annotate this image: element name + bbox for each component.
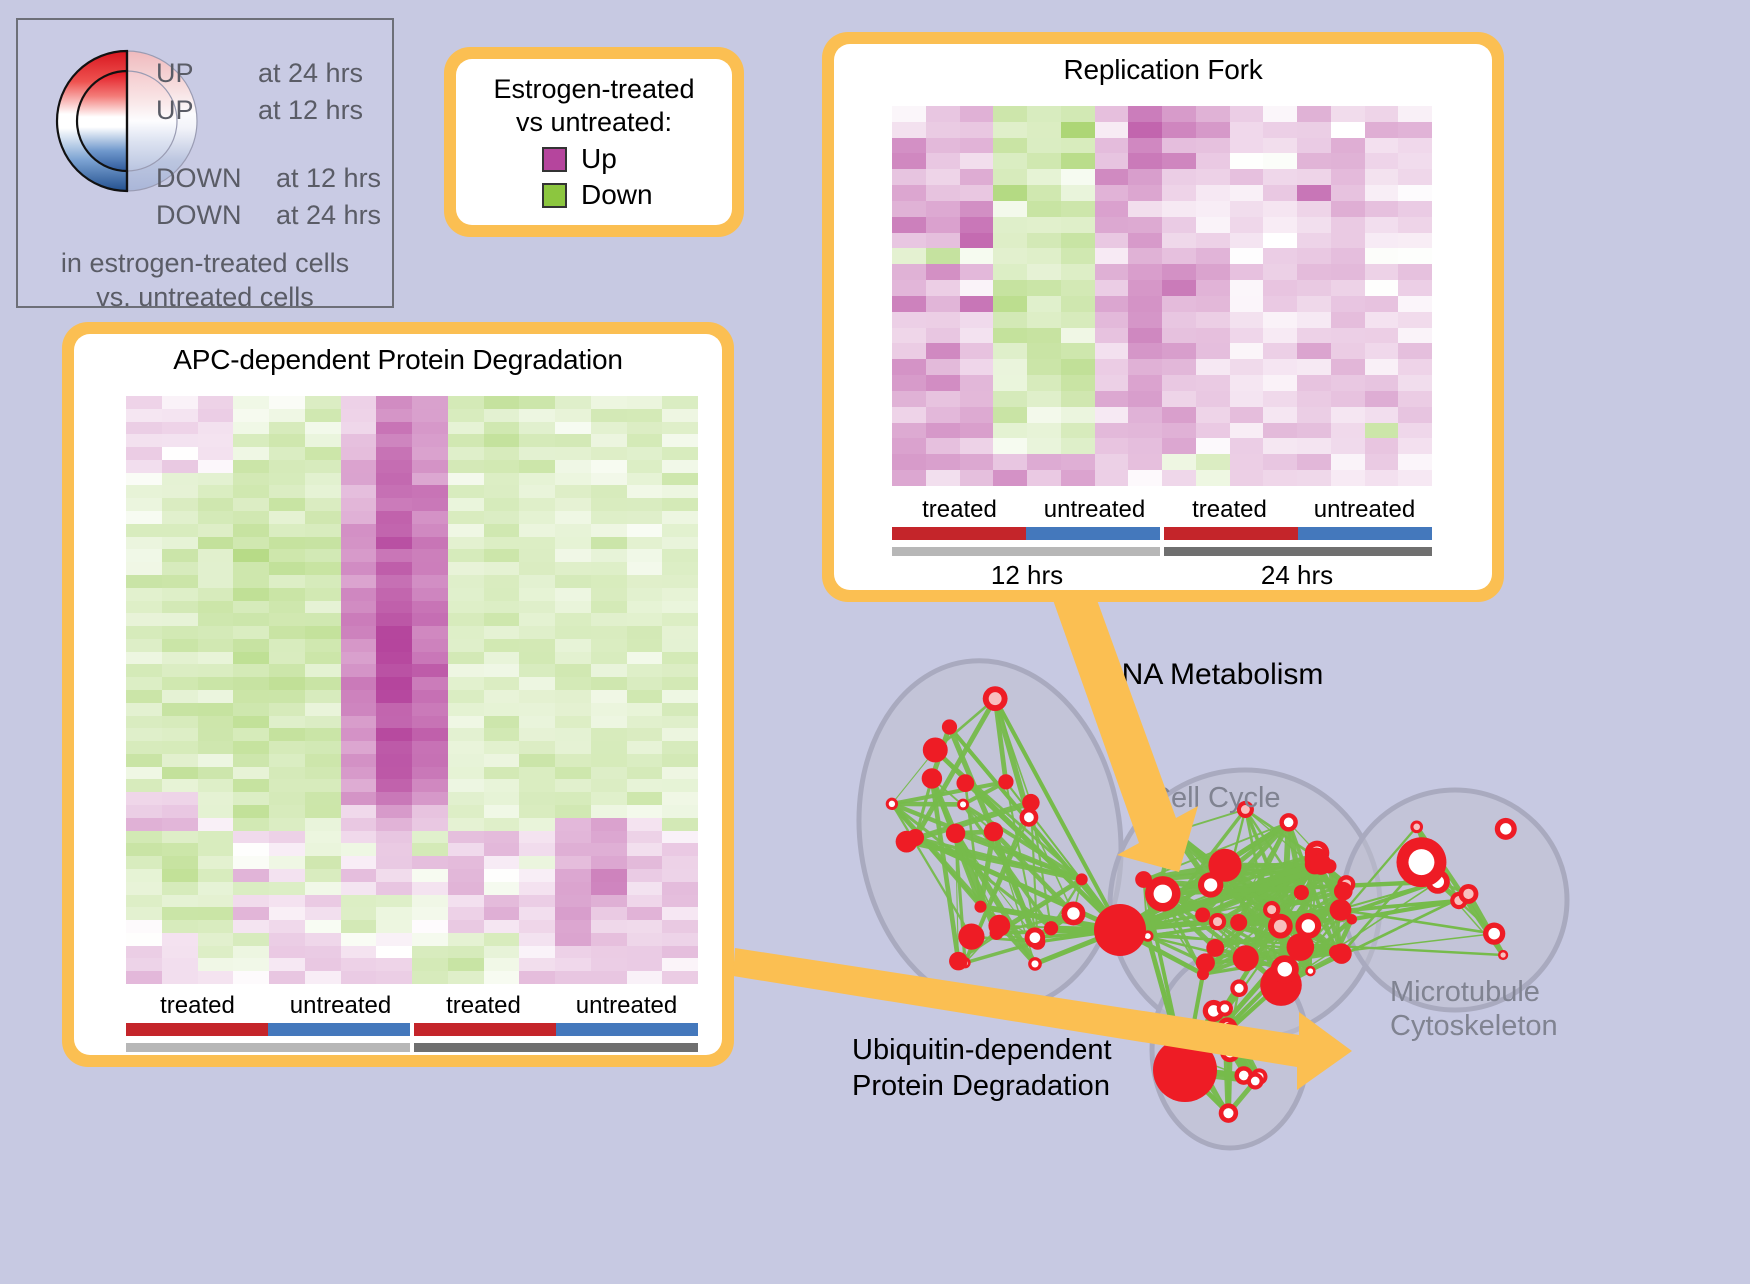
heatmap-cell [412, 728, 448, 741]
heatmap-cell [1263, 359, 1297, 375]
heatmap-cell [376, 754, 412, 767]
heatmap-cell [376, 856, 412, 869]
legend-up-12-label: UP [156, 95, 194, 126]
heatmap-cell [662, 562, 698, 575]
heatmap-cell [305, 473, 341, 486]
legend-down-at-24: at 24 hrs [276, 200, 381, 231]
heatmap-cell [627, 716, 663, 729]
heatmap-cell [162, 831, 198, 844]
heatmap-cell [341, 741, 377, 754]
heatmap-cell [591, 652, 627, 665]
heatmap-cell [1095, 185, 1129, 201]
heatmap-cell [926, 153, 960, 169]
heatmap-cell [1095, 470, 1129, 486]
heatmap-cell [1365, 423, 1399, 439]
heatmap-cell [1061, 359, 1095, 375]
heatmap-cell [926, 280, 960, 296]
heatmap-cell [960, 185, 994, 201]
heatmap-cell [269, 639, 305, 652]
heatmap-cell [233, 779, 269, 792]
heatmap-cell [519, 958, 555, 971]
heatmap-cell [162, 728, 198, 741]
heatmap-cell [1196, 185, 1230, 201]
heatmap-cell [591, 792, 627, 805]
heatmap-cell [412, 792, 448, 805]
heatmap-cell [269, 920, 305, 933]
heatmap-cell [1263, 438, 1297, 454]
heatmap-cell [1331, 423, 1365, 439]
treatment-label: untreated [555, 992, 698, 1020]
heatmap-cell [591, 575, 627, 588]
heatmap-cell [233, 933, 269, 946]
timepoint-label: 12 hrs [892, 560, 1162, 590]
heatmap-cell [1331, 296, 1365, 312]
heatmap-cell [926, 122, 960, 138]
heatmap-cell [1027, 407, 1061, 423]
heatmap-cell [627, 434, 663, 447]
heatmap-cell [1365, 185, 1399, 201]
heatmap-cell [126, 613, 162, 626]
heatmap-cell [412, 626, 448, 639]
heatmap-cell [519, 677, 555, 690]
heatmap-cell [198, 920, 234, 933]
heatmap-cell [1263, 185, 1297, 201]
network-node [1044, 921, 1058, 935]
heatmap-cell [376, 843, 412, 856]
heatmap-cell [627, 460, 663, 473]
heatmap-cell [591, 473, 627, 486]
heatmap-cell [198, 473, 234, 486]
heatmap-cell [341, 498, 377, 511]
heatmap-cell [1297, 169, 1331, 185]
heatmap-cell [341, 652, 377, 665]
heatmap-cell [1095, 296, 1129, 312]
heatmap-cell [376, 409, 412, 422]
heatmap-cell [126, 549, 162, 562]
heatmap-cell [591, 779, 627, 792]
heatmap-cell [627, 422, 663, 435]
heatmap-cell [627, 767, 663, 780]
heatmap-cell [233, 422, 269, 435]
heatmap-cell [1230, 454, 1264, 470]
heatmap-cell [305, 626, 341, 639]
heatmap-cell [1027, 264, 1061, 280]
heatmap-cell [1196, 375, 1230, 391]
heatmap-cell [341, 792, 377, 805]
heatmap-cell [993, 391, 1027, 407]
heatmap-cell [519, 652, 555, 665]
heatmap-cell [555, 741, 591, 754]
heatmap-cell [993, 343, 1027, 359]
heatmap-cell [376, 805, 412, 818]
heatmap-cell [1128, 359, 1162, 375]
heatmap-cell [662, 792, 698, 805]
heatmap-cell [1162, 217, 1196, 233]
heatmap-cell [555, 805, 591, 818]
network-node [1310, 854, 1331, 875]
heatmap-cell [376, 728, 412, 741]
heatmap-cell [591, 856, 627, 869]
heatmap-cell [1331, 185, 1365, 201]
heatmap-cell [519, 562, 555, 575]
key-title-line-1: Estrogen-treated [456, 73, 732, 106]
heatmap-cell [555, 779, 591, 792]
heatmap-cell [484, 524, 520, 537]
heatmap-cell [591, 498, 627, 511]
heatmap-cell [305, 460, 341, 473]
heatmap-cell [412, 601, 448, 614]
heatmap-cell [412, 882, 448, 895]
network-node-core [1031, 960, 1038, 967]
heatmap-cell [484, 716, 520, 729]
heatmap-cell [162, 792, 198, 805]
heatmap-cell [198, 588, 234, 601]
heatmap-cell [591, 460, 627, 473]
heatmap-cell [341, 754, 377, 767]
heatmap-cell [376, 434, 412, 447]
network-node [988, 915, 1010, 937]
heatmap-cell [555, 664, 591, 677]
heatmap-cell [1331, 280, 1365, 296]
heatmap-cell [162, 639, 198, 652]
heatmap-cell [341, 511, 377, 524]
heatmap-cell [591, 447, 627, 460]
heatmap-cell [960, 169, 994, 185]
heatmap-cell [126, 473, 162, 486]
heatmap-cell [662, 703, 698, 716]
heatmap-cell [126, 652, 162, 665]
heatmap-cell [519, 601, 555, 614]
heatmap-cell [198, 434, 234, 447]
heatmap-cell [1061, 233, 1095, 249]
heatmap-cell [960, 138, 994, 154]
heatmap-cell [269, 562, 305, 575]
heatmap-cell [993, 280, 1027, 296]
heatmap-cell [627, 588, 663, 601]
heatmap-cell [555, 613, 591, 626]
heatmap-cell [233, 549, 269, 562]
heatmap-cell [993, 407, 1027, 423]
heatmap-cell [341, 946, 377, 959]
heatmap-cell [993, 138, 1027, 154]
heatmap-cell [376, 473, 412, 486]
heatmap-cell [269, 856, 305, 869]
network-node-core [1145, 933, 1151, 939]
network-node [1346, 914, 1357, 925]
heatmap-cell [662, 460, 698, 473]
heatmap-cell [198, 792, 234, 805]
heatmap-cell [627, 498, 663, 511]
heatmap-cell [484, 409, 520, 422]
heatmap-cell [305, 511, 341, 524]
heatmap-cell [376, 422, 412, 435]
heatmap-cell [1230, 106, 1264, 122]
heatmap-cell [448, 754, 484, 767]
heatmap-cell [162, 537, 198, 550]
heatmap-cell [269, 664, 305, 677]
heatmap-cell [484, 818, 520, 831]
heatmap-cell [662, 409, 698, 422]
heatmap-cell [162, 907, 198, 920]
heatmap-cell [1128, 122, 1162, 138]
heatmap-cell [269, 895, 305, 908]
cluster-label-dna-metabolism: DNA Metabolism [1100, 658, 1323, 692]
heatmap-cell [627, 805, 663, 818]
heatmap-cell [412, 818, 448, 831]
heatmap-cell [1162, 343, 1196, 359]
heatmap-cell [1297, 217, 1331, 233]
figure-canvas: UP at 24 hrs UP at 12 hrs DOWN at 12 hrs… [0, 0, 1750, 1279]
heatmap-cell [555, 958, 591, 971]
heatmap-cell [1230, 312, 1264, 328]
heatmap-cell [591, 767, 627, 780]
heatmap-cell [484, 664, 520, 677]
heatmap-cell [519, 549, 555, 562]
heatmap-cell [1196, 343, 1230, 359]
heatmap-cell [1263, 248, 1297, 264]
heatmap-cell [448, 447, 484, 460]
heatmap-cell [1398, 280, 1432, 296]
heatmap-cell [555, 447, 591, 460]
heatmap-cell [126, 971, 162, 984]
heatmap-cell [1263, 201, 1297, 217]
heatmap-cell [1263, 153, 1297, 169]
heatmap-cell [519, 869, 555, 882]
heatmap-cell [1331, 106, 1365, 122]
heatmap-cell [519, 933, 555, 946]
heatmap-cell [1196, 312, 1230, 328]
heatmap-cell [448, 652, 484, 665]
heatmap-cell [376, 907, 412, 920]
heatmap-cell [960, 106, 994, 122]
heatmap-cell [412, 843, 448, 856]
heatmap-cell [1061, 280, 1095, 296]
heatmap-cell [162, 805, 198, 818]
heatmap-cell [591, 728, 627, 741]
heatmap-cell [162, 869, 198, 882]
heatmap-cell [627, 601, 663, 614]
heatmap-cell [892, 423, 926, 439]
heatmap-cell [484, 498, 520, 511]
heatmap-cell [1061, 153, 1095, 169]
heatmap-cell [892, 248, 926, 264]
heatmap-cell [484, 971, 520, 984]
heatmap-cell [162, 767, 198, 780]
heatmap-cell [662, 690, 698, 703]
heatmap-cell [269, 460, 305, 473]
heatmap-cell [376, 882, 412, 895]
heatmap-cell [233, 664, 269, 677]
heatmap-cell [1162, 391, 1196, 407]
heatmap-cell [126, 818, 162, 831]
heatmap-cell [519, 818, 555, 831]
heatmap-cell [448, 946, 484, 959]
heatmap-cell [993, 122, 1027, 138]
heatmap-cell [305, 946, 341, 959]
heatmap-cell [126, 664, 162, 677]
heatmap-cell [892, 438, 926, 454]
heatmap-cell [305, 498, 341, 511]
heatmap-cell [1128, 375, 1162, 391]
heatmap-cell [555, 537, 591, 550]
heatmap-cell [1027, 233, 1061, 249]
heatmap-cell [591, 741, 627, 754]
heatmap-cell [305, 562, 341, 575]
heatmap-cell [448, 716, 484, 729]
heatmap-cell [412, 664, 448, 677]
heatmap-cell [412, 677, 448, 690]
heatmap-cell [662, 485, 698, 498]
network-node-core [1284, 818, 1294, 828]
network-node-core [1274, 920, 1287, 933]
heatmap-cell [1331, 138, 1365, 154]
heatmap-cell [1230, 138, 1264, 154]
heatmap-cell [198, 626, 234, 639]
heatmap-cell [519, 754, 555, 767]
heatmap-cell [233, 805, 269, 818]
heatmap-cell [892, 375, 926, 391]
heatmap-cell [233, 728, 269, 741]
heatmap-cell [662, 767, 698, 780]
heatmap-cell [1398, 407, 1432, 423]
heatmap-cell [627, 907, 663, 920]
heatmap-cell [341, 728, 377, 741]
heatmap-cell [484, 767, 520, 780]
network-node [974, 901, 986, 913]
heatmap-cell [662, 779, 698, 792]
heatmap-cell [519, 447, 555, 460]
heatmap-cell [376, 537, 412, 550]
heatmap-cell [627, 396, 663, 409]
heatmap-cell [341, 473, 377, 486]
heatmap-cell [484, 473, 520, 486]
heatmap-cell [519, 831, 555, 844]
heatmap-cell [1263, 264, 1297, 280]
heatmap-cell [305, 882, 341, 895]
heatmap-cell [484, 626, 520, 639]
timepoint-bar-segment [1164, 547, 1432, 556]
heatmap-cell [993, 217, 1027, 233]
heatmap-cell [126, 754, 162, 767]
heatmap-cell [233, 409, 269, 422]
heatmap-cell [1196, 391, 1230, 407]
heatmap-cell [448, 485, 484, 498]
heatmap-cell [412, 639, 448, 652]
heatmap-cell [662, 716, 698, 729]
heatmap-cell [126, 460, 162, 473]
heatmap-cell [926, 375, 960, 391]
heatmap-cell [484, 690, 520, 703]
heatmap-cell [662, 843, 698, 856]
heatmap-cell [269, 498, 305, 511]
heatmap-cell [484, 677, 520, 690]
heatmap-cell [341, 460, 377, 473]
heatmap-cell [892, 122, 926, 138]
heatmap-cell [1230, 217, 1264, 233]
heatmap-cell [376, 511, 412, 524]
heatmap-cell [448, 460, 484, 473]
network-node-core [989, 692, 1002, 705]
heatmap-cell [341, 588, 377, 601]
heatmap-cell [591, 485, 627, 498]
network-node [1076, 873, 1088, 885]
heatmap-cell [162, 473, 198, 486]
heatmap-cell [1365, 217, 1399, 233]
network-edge [892, 804, 963, 805]
heatmap-cell [1331, 470, 1365, 486]
heatmap-cell [1061, 138, 1095, 154]
heatmap-cell [1196, 438, 1230, 454]
heatmap-cell [448, 588, 484, 601]
heatmap-cell [591, 895, 627, 908]
heatmap-cell [627, 843, 663, 856]
heatmap-cell [126, 869, 162, 882]
replication-fork-panel: Replication Fork treateduntreatedtreated… [822, 32, 1504, 602]
heatmap-cell [960, 359, 994, 375]
heatmap-cell [1162, 312, 1196, 328]
heatmap-cell [1331, 169, 1365, 185]
network-node-core [1204, 878, 1217, 891]
heatmap-cell [198, 664, 234, 677]
treatment-label: untreated [269, 992, 412, 1020]
apc-degradation-heatmap [126, 396, 698, 984]
heatmap-cell [341, 409, 377, 422]
heatmap-cell [1027, 201, 1061, 217]
heatmap-cell [662, 422, 698, 435]
heatmap-cell [376, 677, 412, 690]
heatmap-cell [1365, 470, 1399, 486]
heatmap-cell [412, 447, 448, 460]
heatmap-cell [1398, 470, 1432, 486]
heatmap-cell [126, 895, 162, 908]
heatmap-cell [1263, 391, 1297, 407]
heatmap-cell [892, 359, 926, 375]
heatmap-cell [662, 549, 698, 562]
heatmap-cell [412, 856, 448, 869]
heatmap-cell [448, 626, 484, 639]
heatmap-cell [269, 716, 305, 729]
heatmap-cell [233, 473, 269, 486]
heatmap-cell [1331, 248, 1365, 264]
heatmap-cell [519, 779, 555, 792]
heatmap-cell [126, 728, 162, 741]
heatmap-cell [926, 328, 960, 344]
heatmap-cell [555, 818, 591, 831]
heatmap-cell [519, 524, 555, 537]
heatmap-cell [1061, 328, 1095, 344]
heatmap-cell [1297, 106, 1331, 122]
heatmap-cell [1027, 280, 1061, 296]
heatmap-cell [412, 511, 448, 524]
heatmap-cell [376, 639, 412, 652]
heatmap-cell [376, 779, 412, 792]
heatmap-cell [662, 856, 698, 869]
heatmap-cell [960, 153, 994, 169]
network-node [1287, 933, 1315, 961]
heatmap-cell [1365, 296, 1399, 312]
heatmap-cell [484, 728, 520, 741]
heatmap-cell [1128, 407, 1162, 423]
heatmap-cell [591, 639, 627, 652]
heatmap-cell [198, 601, 234, 614]
heatmap-cell [198, 703, 234, 716]
heatmap-cell [1128, 185, 1162, 201]
heatmap-cell [341, 920, 377, 933]
heatmap-cell [555, 716, 591, 729]
heatmap-cell [1331, 375, 1365, 391]
heatmap-cell [627, 664, 663, 677]
legend-down-12-label: DOWN [156, 163, 241, 194]
